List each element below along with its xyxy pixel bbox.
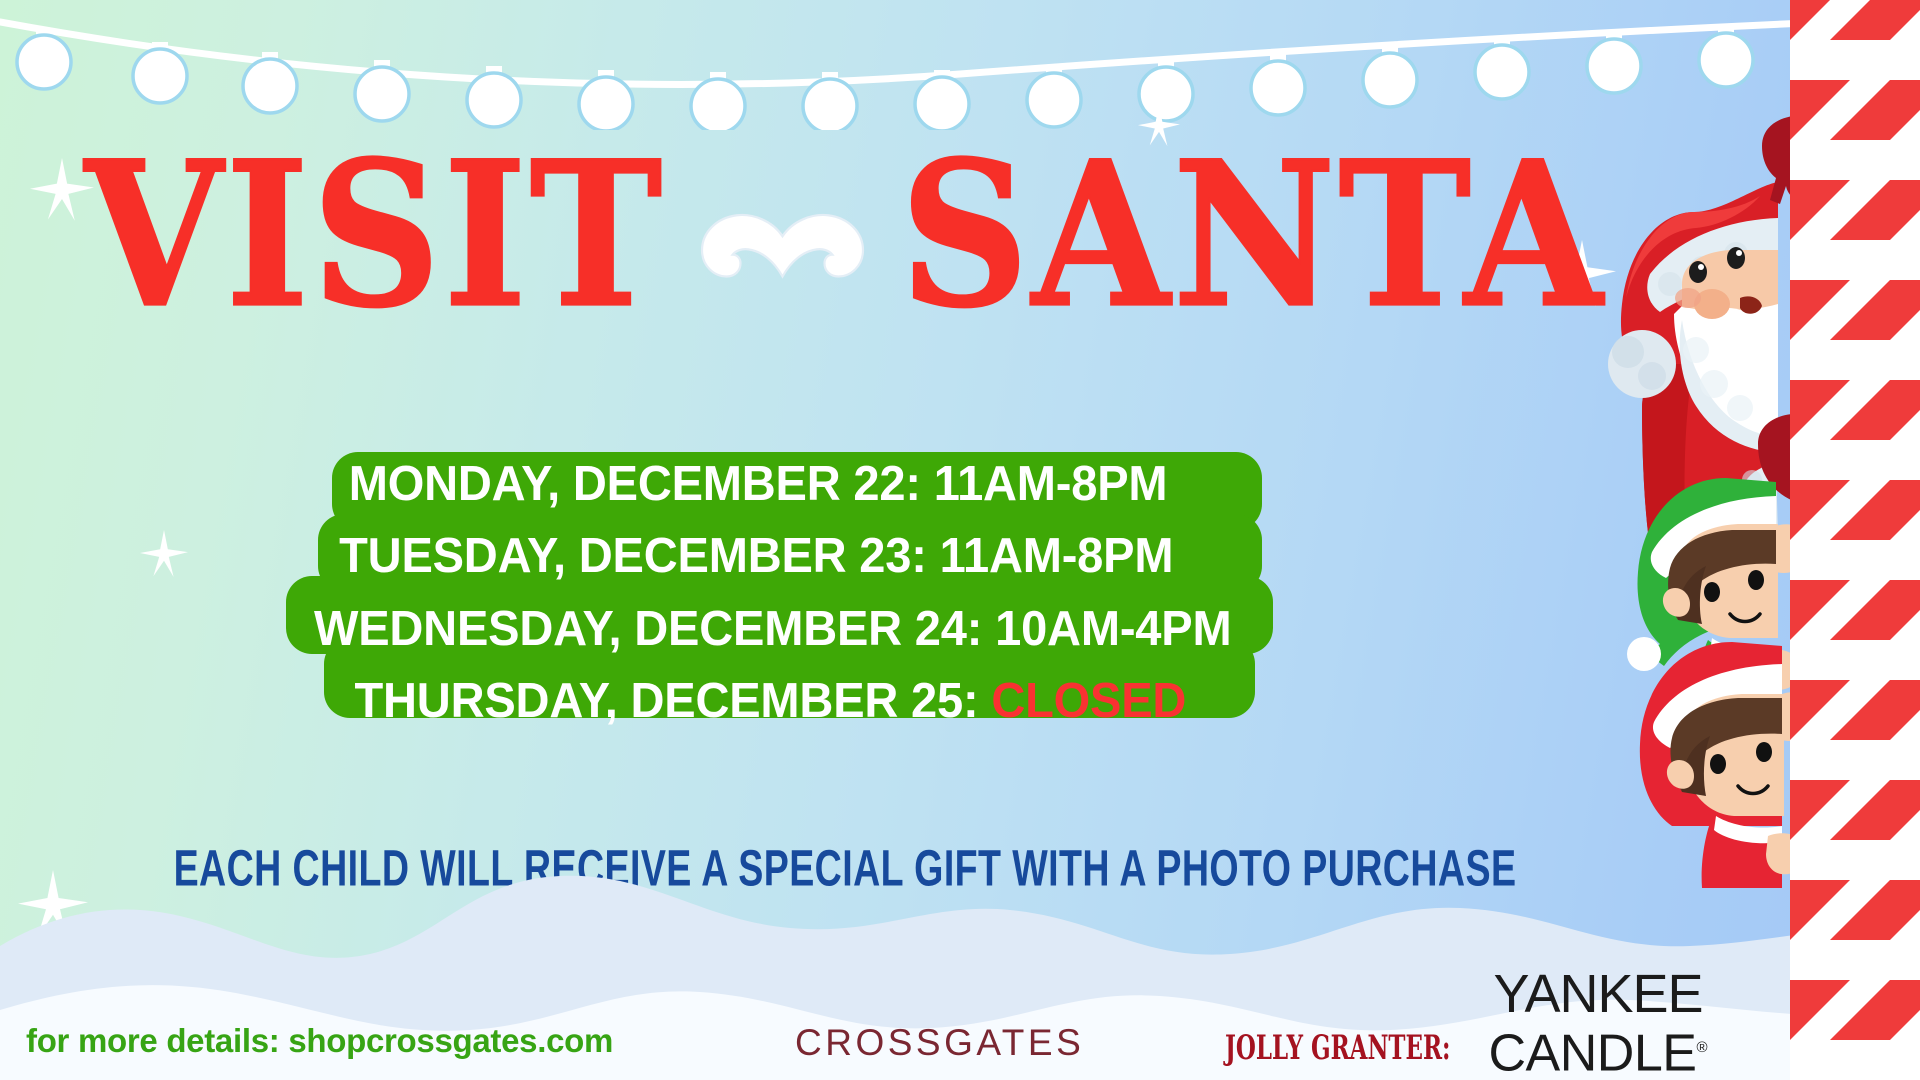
schedule-row-3: WEDNESDAY, DECEMBER 24: 10AM-4PM: [314, 605, 1278, 654]
details-url[interactable]: for more details: shopcrossgates.com: [26, 1022, 613, 1060]
schedule-row-4: THURSDAY, DECEMBER 25: CLOSED: [318, 677, 1278, 726]
candy-stripe-pole-icon: [1790, 0, 1920, 1080]
headline-word-visit: VISIT: [85, 140, 666, 329]
schedule-day-3: WEDNESDAY, DECEMBER 24:: [314, 602, 995, 656]
schedule-day-2: TUESDAY, DECEMBER 23:: [339, 529, 939, 583]
sparkle-star-icon: [140, 530, 188, 578]
santa-visit-poster: VISIT SANTA MONDAY, DECEMBER 22: 11AM-8P…: [0, 0, 1920, 1080]
mustache-icon: [695, 207, 870, 297]
schedule-hours-4: CLOSED: [991, 674, 1186, 728]
page-title: VISIT SANTA: [0, 150, 1690, 319]
schedule-day-4: THURSDAY, DECEMBER 25:: [354, 674, 991, 728]
schedule-hours-1: 11AM-8PM: [934, 457, 1168, 511]
schedule-day-1: MONDAY, DECEMBER 22:: [349, 457, 934, 511]
schedule-hours-3: 10AM-4PM: [995, 602, 1231, 656]
schedule-row-1: MONDAY, DECEMBER 22: 11AM-8PM: [318, 460, 1278, 509]
jolly-granter-label: JOLLY GRANTER:: [1225, 1028, 1451, 1068]
headline-word-santa: SANTA: [900, 140, 1605, 329]
schedule-panel: MONDAY, DECEMBER 22: 11AM-8PM TUESDAY, D…: [318, 452, 1318, 732]
crossgates-logo: CROSSGATES: [795, 1022, 1084, 1064]
schedule-row-2: TUESDAY, DECEMBER 23: 11AM-8PM: [318, 532, 1278, 581]
schedule-hours-2: 11AM-8PM: [940, 529, 1174, 583]
